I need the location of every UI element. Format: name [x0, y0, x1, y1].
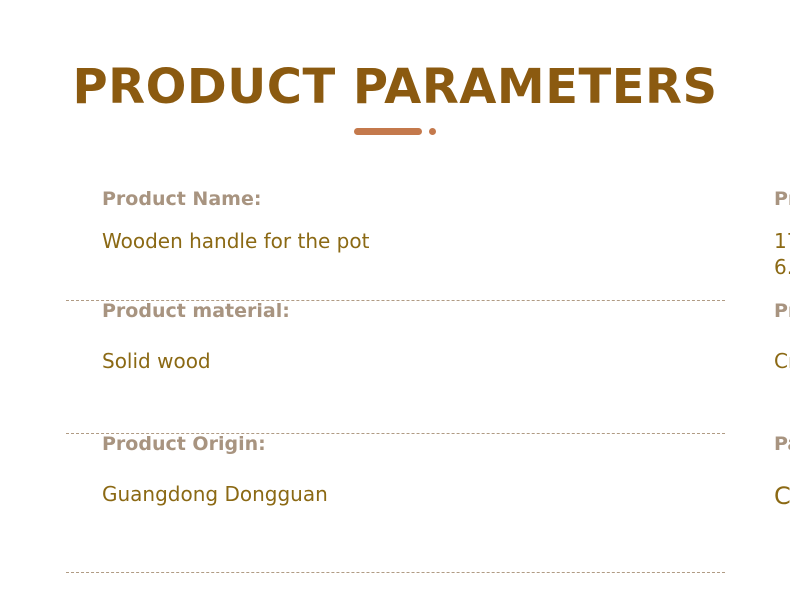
spacer: [774, 457, 790, 481]
spacer: [102, 324, 336, 348]
spec-cell-product-brand: Product Brand: Craftsman's Home: [336, 300, 790, 433]
spec-cell-product-origin: Product Origin: Guangdong Dongguan: [0, 433, 336, 572]
spec-value: Carton packaging: [774, 481, 790, 513]
spec-label: Product size:: [774, 188, 790, 212]
accent-bar-icon: [354, 128, 422, 135]
spec-value: Guangdong Dongguan: [102, 481, 336, 507]
spacer: [774, 324, 790, 348]
spec-value: Solid wood: [102, 348, 336, 374]
accent-dot-icon: [429, 128, 436, 135]
spec-label: Product Name:: [102, 188, 336, 212]
table-row: Product Origin: Guangdong Dongguan Packa…: [0, 433, 790, 572]
row-divider: [66, 572, 725, 573]
spacer: [102, 212, 336, 228]
product-parameters-page: PRODUCT PARAMETERS Product Name: Wooden …: [0, 0, 790, 597]
spec-cell-product-material: Product material: Solid wood: [0, 300, 336, 433]
spacer: [774, 212, 790, 228]
spec-label: Product Brand:: [774, 300, 790, 324]
title-accent-divider: [0, 128, 790, 135]
table-row: Product Name: Wooden handle for the pot …: [0, 188, 790, 300]
spec-cell-product-name: Product Name: Wooden handle for the pot: [0, 188, 336, 300]
page-title: PRODUCT PARAMETERS: [0, 62, 790, 114]
spec-table: Product Name: Wooden handle for the pot …: [0, 188, 790, 572]
row-divider: [66, 300, 725, 301]
table-row: Product material: Solid wood Product Bra…: [0, 300, 790, 433]
spec-label: Product Origin:: [102, 433, 336, 457]
spec-value: Craftsman's Home: [774, 348, 790, 374]
page-header: PRODUCT PARAMETERS: [0, 62, 790, 135]
spec-value: Wooden handle for the pot: [102, 228, 336, 254]
spec-cell-packaging-transportation: Packaging and Transportation: Carton pac…: [336, 433, 790, 572]
spec-label: Packaging and Transportation:: [774, 433, 790, 457]
spec-cell-product-size: Product size: 17.5*3cm 6.88*1.88in: [336, 188, 790, 300]
row-divider: [66, 433, 725, 434]
spacer: [102, 457, 336, 481]
spec-value: 17.5*3cm 6.88*1.88in: [774, 228, 790, 281]
spec-label: Product material:: [102, 300, 336, 324]
